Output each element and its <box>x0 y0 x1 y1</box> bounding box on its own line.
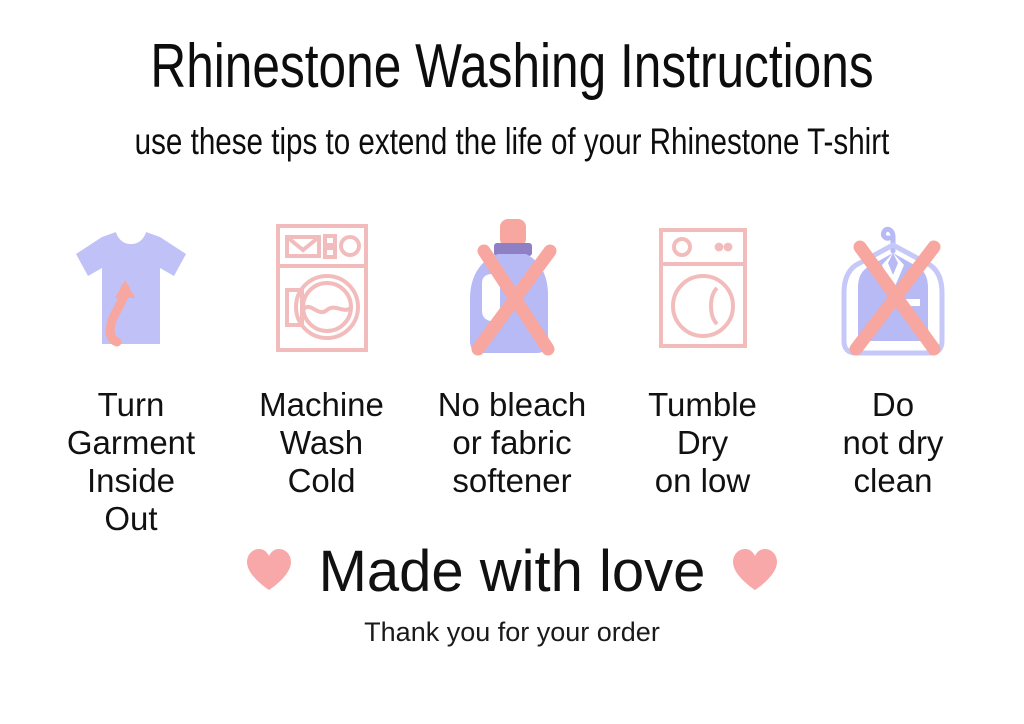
instruction-label-tumble-dry-low: Tumble Dry on low <box>608 386 798 500</box>
icon-cell-no-dry-clean <box>798 212 988 364</box>
no-bleach-bottle-icon <box>456 217 568 359</box>
washing-machine-icon <box>274 222 370 354</box>
instruction-label-row: Turn Garment Inside Out Machine Wash Col… <box>36 386 988 538</box>
tshirt-inside-out-icon <box>72 224 190 352</box>
tumble-dryer-icon <box>657 226 749 350</box>
made-with-love-line: Made with love <box>0 534 1024 610</box>
card-header: Rhinestone Washing Instructions use thes… <box>0 30 1024 166</box>
icon-cell-turn-garment-inside-out <box>36 212 226 364</box>
washing-instructions-card: Rhinestone Washing Instructions use thes… <box>0 0 1024 724</box>
no-dry-clean-icon <box>834 217 952 359</box>
thank-you-text: Thank you for your order <box>0 616 1024 648</box>
made-with-love-text: Made with love <box>319 541 706 603</box>
instruction-label-no-bleach: No bleach or fabric softener <box>417 386 607 500</box>
icon-cell-no-bleach <box>417 212 607 364</box>
instruction-label-no-dry-clean: Do not dry clean <box>798 386 988 500</box>
icon-cell-machine-wash-cold <box>227 212 417 364</box>
icon-cell-tumble-dry-low <box>608 212 798 364</box>
instruction-icon-row <box>36 212 988 364</box>
page-title: Rhinestone Washing Instructions <box>102 30 921 104</box>
heart-icon <box>731 548 779 597</box>
instruction-label-turn-garment-inside-out: Turn Garment Inside Out <box>36 386 226 538</box>
card-footer: Made with love Thank you for your order <box>0 534 1024 648</box>
heart-icon <box>245 548 293 597</box>
page-subtitle: use these tips to extend the life of you… <box>102 118 921 166</box>
instruction-label-machine-wash-cold: Machine Wash Cold <box>227 386 417 500</box>
